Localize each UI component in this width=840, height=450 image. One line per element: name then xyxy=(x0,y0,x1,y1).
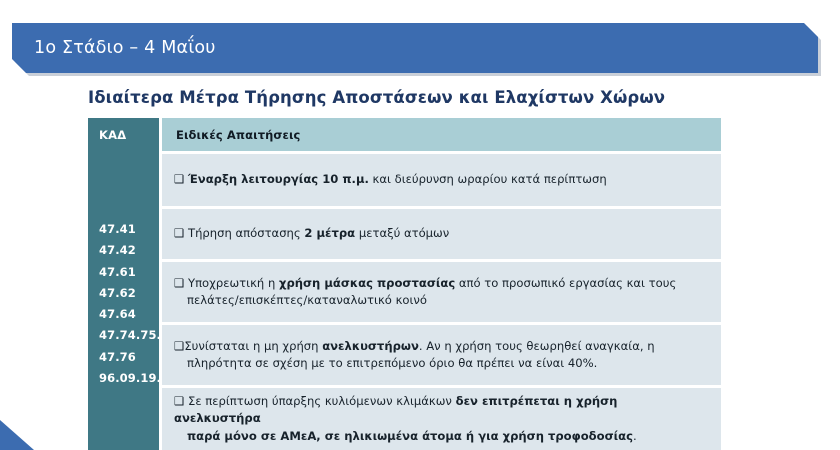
kad-code: 47.61 xyxy=(99,262,159,283)
requirement-line2-bold: παρά μόνο σε ΑΜεΑ, σε ηλικιωμένα άτομα ή… xyxy=(187,429,633,443)
corner-triangle-decoration xyxy=(0,420,34,450)
kad-code: 47.64 xyxy=(99,304,159,325)
requirement-pre: Σε περίπτωση ύπαρξης κυλιόμενων κλιμάκων xyxy=(188,394,456,408)
checkbox-icon: ❑ xyxy=(174,226,184,240)
checkbox-icon: ❑ xyxy=(174,339,184,353)
checkbox-icon: ❑ xyxy=(174,394,184,408)
checkbox-icon: ❑ xyxy=(174,276,184,290)
requirement-pre: Υποχρεωτική η xyxy=(188,276,279,290)
kad-column-header: ΚΑΔ xyxy=(88,118,159,151)
requirement-bold: χρήση μάσκας προστασίας xyxy=(279,276,455,290)
requirement-line2: πληρότητα σε σχέση με το επιτρεπόμενο όρ… xyxy=(174,355,655,373)
requirement-rest: και διεύρυνση ωραρίου κατά περίπτωση xyxy=(369,172,607,186)
table-row: ❑ Τήρηση απόστασης 2 μέτρα μεταξύ ατόμων xyxy=(162,209,721,259)
table-row: ❑ Υποχρεωτική η χρήση μάσκας προστασίας … xyxy=(162,262,721,322)
requirement-pre: Τήρηση απόστασης xyxy=(188,226,304,240)
requirement-text: ❑ Τήρηση απόστασης 2 μέτρα μεταξύ ατόμων xyxy=(174,225,449,243)
header-banner: 1ο Στάδιο – 4 Μαΐου xyxy=(12,23,821,76)
table-row: ❑Συνίσταται η μη χρήση ανελκυστήρων. Αν … xyxy=(162,325,721,385)
kad-code: 96.09.19.08 xyxy=(99,368,159,389)
kad-column: ΚΑΔ 47.41 47.42 47.61 47.62 47.64 47.74.… xyxy=(88,118,159,450)
kad-code: 47.62 xyxy=(99,283,159,304)
requirement-line2-rest: . xyxy=(633,429,637,443)
requirements-column: Ειδικές Απαιτήσεις ❑ Έναρξη λειτουργίας … xyxy=(162,118,721,450)
requirement-text: ❑ Σε περίπτωση ύπαρξης κυλιόμενων κλιμάκ… xyxy=(174,393,707,446)
page-title: Ιδιαίτερα Μέτρα Τήρησης Αποστάσεων και Ε… xyxy=(88,88,665,107)
banner-shape: 1ο Στάδιο – 4 Μαΐου xyxy=(12,23,818,73)
requirement-text: ❑ Έναρξη λειτουργίας 10 π.μ. και διεύρυν… xyxy=(174,171,607,189)
kad-code: 47.74.75.03 xyxy=(99,325,159,346)
requirement-bold: 2 μέτρα xyxy=(304,226,355,240)
kad-code: 47.76 xyxy=(99,347,159,368)
kad-code: 47.42 xyxy=(99,240,159,261)
checkbox-icon: ❑ xyxy=(174,172,184,186)
table-row: ❑ Έναρξη λειτουργίας 10 π.μ. και διεύρυν… xyxy=(162,154,721,206)
requirement-rest: . Αν η χρήση τους θεωρηθεί αναγκαία, η xyxy=(419,339,655,353)
kad-code: 47.41 xyxy=(99,219,159,240)
requirement-line2: πελάτες/επισκέπτες/καταναλωτικό κοινό xyxy=(174,292,676,310)
requirement-rest: από το προσωπικό εργασίας και τους xyxy=(455,276,676,290)
requirement-bold: Έναρξη λειτουργίας 10 π.μ. xyxy=(188,172,369,186)
table-row: ❑ Σε περίπτωση ύπαρξης κυλιόμενων κλιμάκ… xyxy=(162,388,721,450)
requirements-column-header: Ειδικές Απαιτήσεις xyxy=(162,118,721,151)
requirement-line2: παρά μόνο σε ΑΜεΑ, σε ηλικιωμένα άτομα ή… xyxy=(174,428,707,446)
requirement-rest: μεταξύ ατόμων xyxy=(355,226,449,240)
kad-code-list: 47.41 47.42 47.61 47.62 47.64 47.74.75.0… xyxy=(88,151,159,450)
requirement-text: ❑ Υποχρεωτική η χρήση μάσκας προστασίας … xyxy=(174,275,676,310)
requirement-pre: Συνίσταται η μη χρήση xyxy=(184,339,322,353)
requirement-text: ❑Συνίσταται η μη χρήση ανελκυστήρων. Αν … xyxy=(174,338,655,373)
banner-title: 1ο Στάδιο – 4 Μαΐου xyxy=(34,38,216,58)
requirement-bold: ανελκυστήρων xyxy=(322,339,419,353)
measures-table: ΚΑΔ 47.41 47.42 47.61 47.62 47.64 47.74.… xyxy=(88,118,721,450)
